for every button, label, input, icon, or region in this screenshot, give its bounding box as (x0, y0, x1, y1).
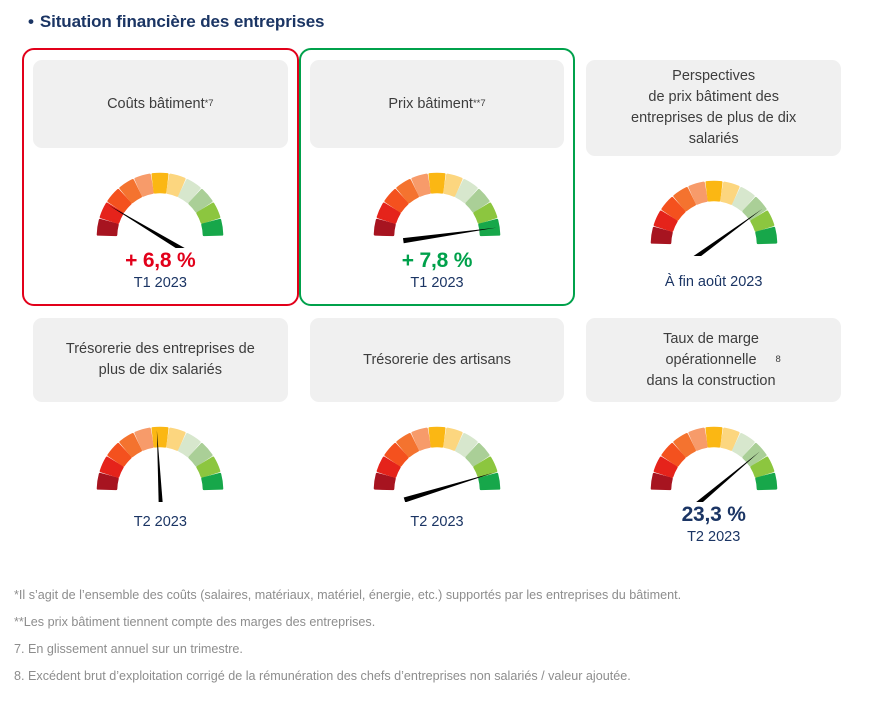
gauge-chart (91, 166, 229, 248)
gauge-chart (645, 174, 783, 256)
footnote-item: *Il s’agit de l’ensemble des coûts (sala… (14, 586, 804, 604)
card-title: Prix bâtiment (388, 94, 473, 115)
gauge-card-grid: Coûts bâtiment*7 + 6,8 % T1 2023 Prix bâ… (22, 48, 852, 546)
card-tresorerie-entreprises[interactable]: Trésorerie des entreprises deplus de dix… (22, 306, 299, 546)
card-title: Perspectivesde prix bâtiment desentrepri… (631, 66, 796, 150)
title-bullet-icon: • (28, 13, 34, 30)
card-header: Trésorerie des entreprises deplus de dix… (33, 318, 288, 402)
gauge-cell: Trésorerie des entreprises deplus de dix… (22, 306, 299, 546)
card-title: Trésorerie des artisans (363, 350, 511, 371)
card-perspectives-prix-batiment[interactable]: Perspectivesde prix bâtiment desentrepri… (575, 48, 852, 306)
card-header: Prix bâtiment**7 (310, 60, 565, 148)
card-tresorerie-artisans[interactable]: Trésorerie des artisans T2 2023 (299, 306, 576, 546)
card-period: T1 2023 (125, 273, 195, 293)
gauge-chart (368, 166, 506, 248)
card-header: Taux de margeopérationnelledans la const… (586, 318, 841, 402)
footnote-item: 8. Excédent brut d’exploitation corrigé … (14, 667, 804, 685)
gauge-cell: Taux de margeopérationnelledans la const… (575, 306, 852, 546)
gauge-row-top: Coûts bâtiment*7 + 6,8 % T1 2023 Prix bâ… (22, 48, 852, 306)
gauge-container (645, 156, 783, 270)
card-footer: 23,3 % T2 2023 (682, 502, 746, 551)
gauge-cell: Prix bâtiment**7 + 7,8 % T1 2023 (299, 48, 576, 306)
card-header: Trésorerie des artisans (310, 318, 565, 402)
card-period: À fin août 2023 (665, 272, 763, 292)
card-footer: T2 2023 (134, 510, 187, 536)
footnote-item: 7. En glissement annuel sur un trimestre… (14, 640, 804, 658)
card-title: Coûts bâtiment (107, 94, 205, 115)
footnotes: *Il s’agit de l’ensemble des coûts (sala… (14, 586, 804, 685)
gauge-cell: Trésorerie des artisans T2 2023 (299, 306, 576, 546)
gauge-chart (645, 420, 783, 502)
page-title: •Situation financière des entreprises (28, 12, 324, 32)
card-header: Coûts bâtiment*7 (33, 60, 288, 148)
gauge-container (368, 148, 506, 248)
card-footer: + 7,8 % T1 2023 (402, 248, 472, 297)
card-footer: + 6,8 % T1 2023 (125, 248, 195, 297)
card-value: + 6,8 % (125, 248, 195, 273)
gauge-container (91, 148, 229, 248)
card-couts-batiment[interactable]: Coûts bâtiment*7 + 6,8 % T1 2023 (22, 48, 299, 306)
card-period: T1 2023 (402, 273, 472, 293)
gauge-container (91, 402, 229, 510)
gauge-cell: Perspectivesde prix bâtiment desentrepri… (575, 48, 852, 306)
card-header: Perspectivesde prix bâtiment desentrepri… (586, 60, 841, 156)
card-footer: À fin août 2023 (665, 270, 763, 296)
gauge-row-bottom: Trésorerie des entreprises deplus de dix… (22, 306, 852, 546)
card-value: 23,3 % (682, 502, 746, 527)
card-taux-marge-operationnelle[interactable]: Taux de margeopérationnelledans la const… (575, 306, 852, 546)
gauge-chart (91, 420, 229, 502)
gauge-chart (368, 420, 506, 502)
card-title: Taux de margeopérationnelledans la const… (647, 329, 776, 392)
card-period: T2 2023 (134, 512, 187, 532)
gauge-cell: Coûts bâtiment*7 + 6,8 % T1 2023 (22, 48, 299, 306)
footnote-item: **Les prix bâtiment tiennent compte des … (14, 613, 804, 631)
card-prix-batiment[interactable]: Prix bâtiment**7 + 7,8 % T1 2023 (299, 48, 576, 306)
card-footer: T2 2023 (410, 510, 463, 536)
card-value: + 7,8 % (402, 248, 472, 273)
gauge-container (368, 402, 506, 510)
card-title: Trésorerie des entreprises deplus de dix… (66, 339, 255, 381)
card-period: T2 2023 (682, 527, 746, 547)
page-title-text: Situation financière des entreprises (40, 12, 325, 31)
card-period: T2 2023 (410, 512, 463, 532)
gauge-container (645, 402, 783, 502)
